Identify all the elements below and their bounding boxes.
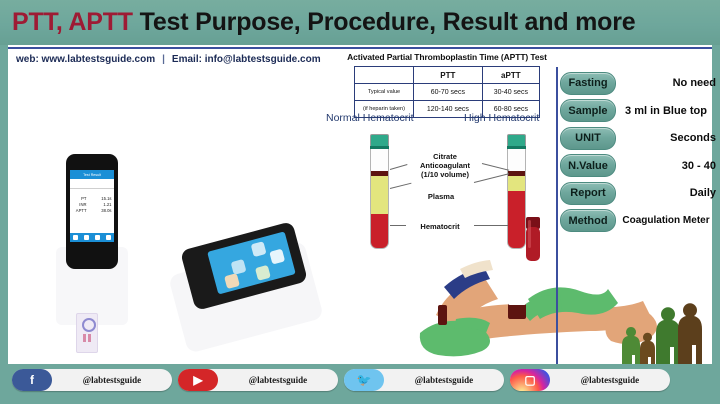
table-row: Typical value 60-70 secs 30-40 secs <box>355 84 540 101</box>
facebook-handle[interactable]: @labtestsguide <box>52 375 172 385</box>
device-results-list: PT 15.1s INR 1.21 APTT 38.0s <box>70 189 114 214</box>
social-bar: f @labtestsguide ▶ @labtestsguide 🐦 @lab… <box>8 364 716 396</box>
info-value-report: Daily <box>616 187 718 199</box>
info-row-fasting: Fasting No need <box>560 71 718 95</box>
device-screen-form-row <box>70 179 114 189</box>
frame-left-edge <box>0 45 8 404</box>
table-header-row: PTT aPTT <box>355 67 540 84</box>
app-icon-1 <box>251 241 267 257</box>
page-header: PTT, APTT Test Purpose, Procedure, Resul… <box>0 0 720 45</box>
volume-label: (1/10 volume) <box>398 170 492 179</box>
instagram-handle[interactable]: @labtestsguide <box>550 375 670 385</box>
social-item-youtube[interactable]: ▶ @labtestsguide <box>178 369 338 391</box>
info-value-sample: 3 ml in Blue top <box>616 105 718 117</box>
info-key-method: Method <box>560 209 616 232</box>
tablet-screen <box>207 231 296 294</box>
cell-ptt: 60-70 secs <box>414 84 483 101</box>
facebook-icon[interactable]: f <box>12 369 52 391</box>
info-key-report: Report <box>560 182 616 205</box>
plasma-label: Plasma <box>410 192 472 201</box>
info-value-nvalue: 30 - 40 <box>616 160 718 172</box>
strip-bar-2 <box>88 334 91 342</box>
aptt-table: PTT aPTT Typical value 60-70 secs 30-40 … <box>354 66 540 118</box>
blood-collection-tube <box>522 217 544 265</box>
column-divider <box>556 67 558 364</box>
anticoagulant-label: Anticoagulant <box>395 161 495 170</box>
youtube-icon[interactable]: ▶ <box>178 369 218 391</box>
aptt-table-block: Activated Partial Thromboplastin Time (A… <box>340 52 554 118</box>
navbar-icon-1 <box>73 235 78 240</box>
app-icon-3 <box>231 259 247 275</box>
device-navbar <box>70 233 114 242</box>
tube-hematocrit-layer <box>370 214 389 249</box>
hematocrit-tube-diagram: Normal Hematocrit High Hematocrit <box>324 112 554 242</box>
social-item-twitter[interactable]: 🐦 @labtestsguide <box>344 369 504 391</box>
social-item-facebook[interactable]: f @labtestsguide <box>12 369 172 391</box>
table-corner-cell <box>355 67 414 84</box>
info-row-nvalue: N.Value 30 - 40 <box>560 154 718 178</box>
tube-plasma-layer <box>507 176 526 191</box>
page-title: PTT, APTT Test Purpose, Procedure, Resul… <box>0 10 635 35</box>
info-panel: Fasting No need Sample 3 ml in Blue top … <box>560 71 718 236</box>
info-row-sample: Sample 3 ml in Blue top <box>560 99 718 123</box>
info-key-unit: UNIT <box>560 127 616 150</box>
contact-separator: | <box>155 54 172 65</box>
tube-air-gap <box>370 149 389 171</box>
tube-plasma-layer <box>370 176 389 214</box>
info-key-nvalue: N.Value <box>560 154 616 177</box>
page-title-rest: Test Purpose, Procedure, Result and more <box>133 8 636 36</box>
app-icon-2 <box>269 249 285 265</box>
main-panel: Test Result PT 15.1s INR 1.21 APTT 38.0s <box>8 67 712 364</box>
hematocrit-label: Hematocrit <box>404 222 476 231</box>
citrate-label: Citrate <box>401 152 489 161</box>
high-hematocrit-label: High Hematocrit <box>464 112 539 124</box>
tube-air-gap <box>507 149 526 171</box>
app-icon-4 <box>224 273 240 289</box>
social-item-instagram[interactable]: ▢ @labtestsguide <box>510 369 670 391</box>
test-strip <box>76 313 98 353</box>
people-silhouettes-svg <box>614 297 704 369</box>
people-silhouettes <box>614 297 704 369</box>
tube-cap <box>370 134 389 146</box>
info-row-method: Method Coagulation Meter <box>560 209 718 233</box>
info-row-report: Report Daily <box>560 181 718 205</box>
table-header-ptt: PTT <box>414 67 483 84</box>
info-value-method: Coagulation Meter <box>616 215 718 226</box>
info-value-unit: Seconds <box>616 132 718 144</box>
tube-normal-hematocrit <box>370 134 389 249</box>
leader-line <box>390 183 412 189</box>
aptt-table-title: Activated Partial Thromboplastin Time (A… <box>340 52 554 62</box>
tube-cap <box>507 134 526 146</box>
result-name: APTT <box>73 208 87 214</box>
website-text[interactable]: web: www.labtestsguide.com <box>8 54 155 65</box>
info-value-fasting: No need <box>616 77 718 89</box>
device-result-row: APTT 38.0s <box>70 208 114 214</box>
infographic-page: PTT, APTT Test Purpose, Procedure, Resul… <box>0 0 720 404</box>
instagram-icon[interactable]: ▢ <box>510 369 550 391</box>
device-screen: Test Result PT 15.1s INR 1.21 APTT 38.0s <box>70 170 114 242</box>
twitter-handle[interactable]: @labtestsguide <box>384 375 504 385</box>
strip-bar-1 <box>83 334 86 342</box>
navbar-icon-2 <box>84 235 89 240</box>
leader-line <box>474 225 508 226</box>
cell-aptt: 30-40 secs <box>482 84 539 101</box>
frame-bottom-edge <box>0 396 720 404</box>
strip-ring-icon <box>82 318 96 332</box>
row-label: Typical value <box>355 84 414 101</box>
info-key-fasting: Fasting <box>560 72 616 95</box>
navbar-icon-4 <box>106 235 111 240</box>
page-title-highlight: PTT, APTT <box>12 8 133 36</box>
table-header-aptt: aPTT <box>482 67 539 84</box>
youtube-handle[interactable]: @labtestsguide <box>218 375 338 385</box>
normal-hematocrit-label: Normal Hematocrit <box>326 112 414 124</box>
device-screen-titlebar: Test Result <box>70 170 114 179</box>
result-value: 38.0s <box>96 208 112 214</box>
info-key-sample: Sample <box>560 99 616 122</box>
app-icon-5 <box>255 265 271 281</box>
handheld-coagulometer: Test Result PT 15.1s INR 1.21 APTT 38.0s <box>66 154 118 269</box>
twitter-icon[interactable]: 🐦 <box>344 369 384 391</box>
leader-line <box>390 225 406 226</box>
navbar-icon-3 <box>95 235 100 240</box>
info-row-unit: UNIT Seconds <box>560 126 718 150</box>
email-text[interactable]: Email: info@labtestsguide.com <box>172 54 321 65</box>
